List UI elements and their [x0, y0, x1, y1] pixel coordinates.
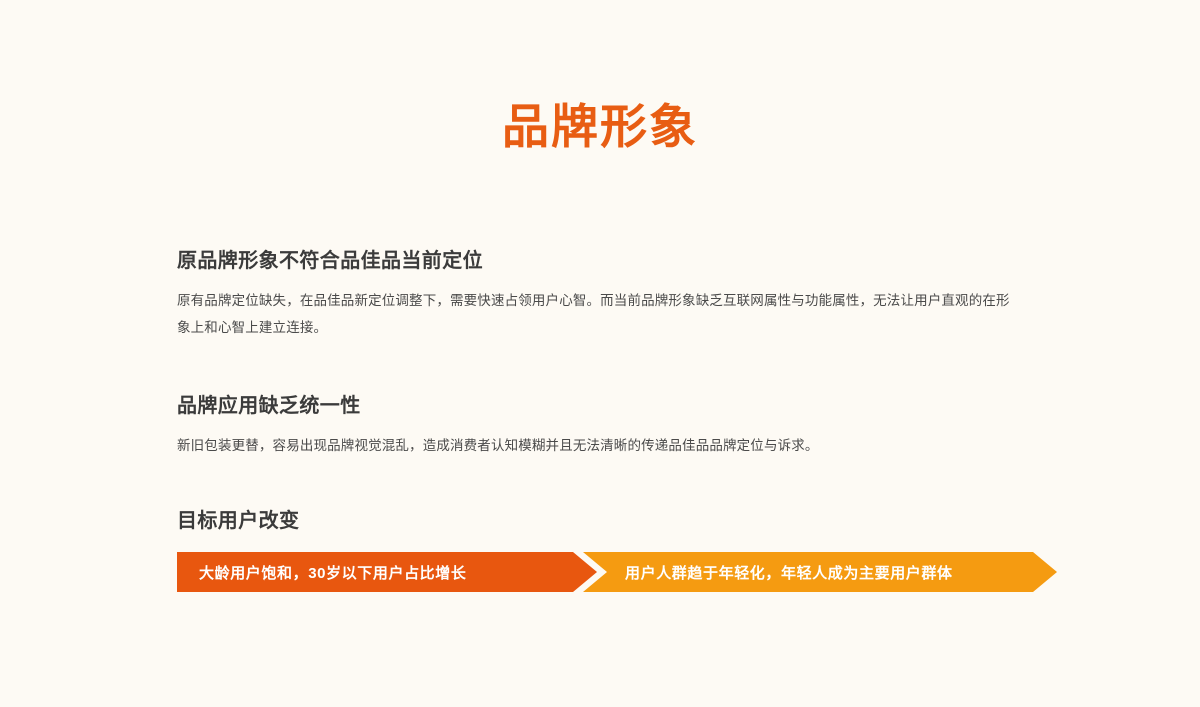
arrow-segment-future-users: 用户人群趋于年轻化，年轻人成为主要用户群体: [583, 552, 1057, 592]
slide-root: 品牌形象 原品牌形象不符合品佳品当前定位 原有品牌定位缺失，在品佳品新定位调整下…: [0, 0, 1200, 707]
section-spacer-1: [177, 341, 1057, 393]
section-heading-2: 品牌应用缺乏统一性: [177, 393, 1057, 419]
arrow-banner: 大龄用户饱和，30岁以下用户占比增长 用户人群趋于年轻化，年轻人成为主要用户群体: [177, 552, 1057, 592]
section-body-1: 原有品牌定位缺失，在品佳品新定位调整下，需要快速占领用户心智。而当前品牌形象缺乏…: [177, 287, 1015, 341]
section-heading-1: 原品牌形象不符合品佳品当前定位: [177, 248, 1057, 274]
arrow-segment-right-label: 用户人群趋于年轻化，年轻人成为主要用户群体: [625, 562, 953, 583]
section-body-2: 新旧包装更替，容易出现品牌视觉混乱，造成消费者认知模糊并且无法清晰的传递品佳品品…: [177, 432, 1015, 459]
section-heading-3: 目标用户改变: [177, 508, 1057, 534]
section-brand-application-inconsistency: 品牌应用缺乏统一性 新旧包装更替，容易出现品牌视觉混乱，造成消费者认知模糊并且无…: [177, 393, 1057, 459]
section-spacer-2: [177, 459, 1057, 508]
section-target-user-change: 目标用户改变 大龄用户饱和，30岁以下用户占比增长 用户人群趋于年轻化，年轻人成…: [177, 508, 1057, 592]
arrow-segment-current-users: 大龄用户饱和，30岁以下用户占比增长: [177, 552, 597, 592]
arrow-segment-left-label: 大龄用户饱和，30岁以下用户占比增长: [199, 562, 467, 583]
page-title: 品牌形象: [0, 100, 1200, 154]
section-brand-image-mismatch: 原品牌形象不符合品佳品当前定位 原有品牌定位缺失，在品佳品新定位调整下，需要快速…: [177, 248, 1057, 341]
content-column: 原品牌形象不符合品佳品当前定位 原有品牌定位缺失，在品佳品新定位调整下，需要快速…: [177, 248, 1057, 592]
